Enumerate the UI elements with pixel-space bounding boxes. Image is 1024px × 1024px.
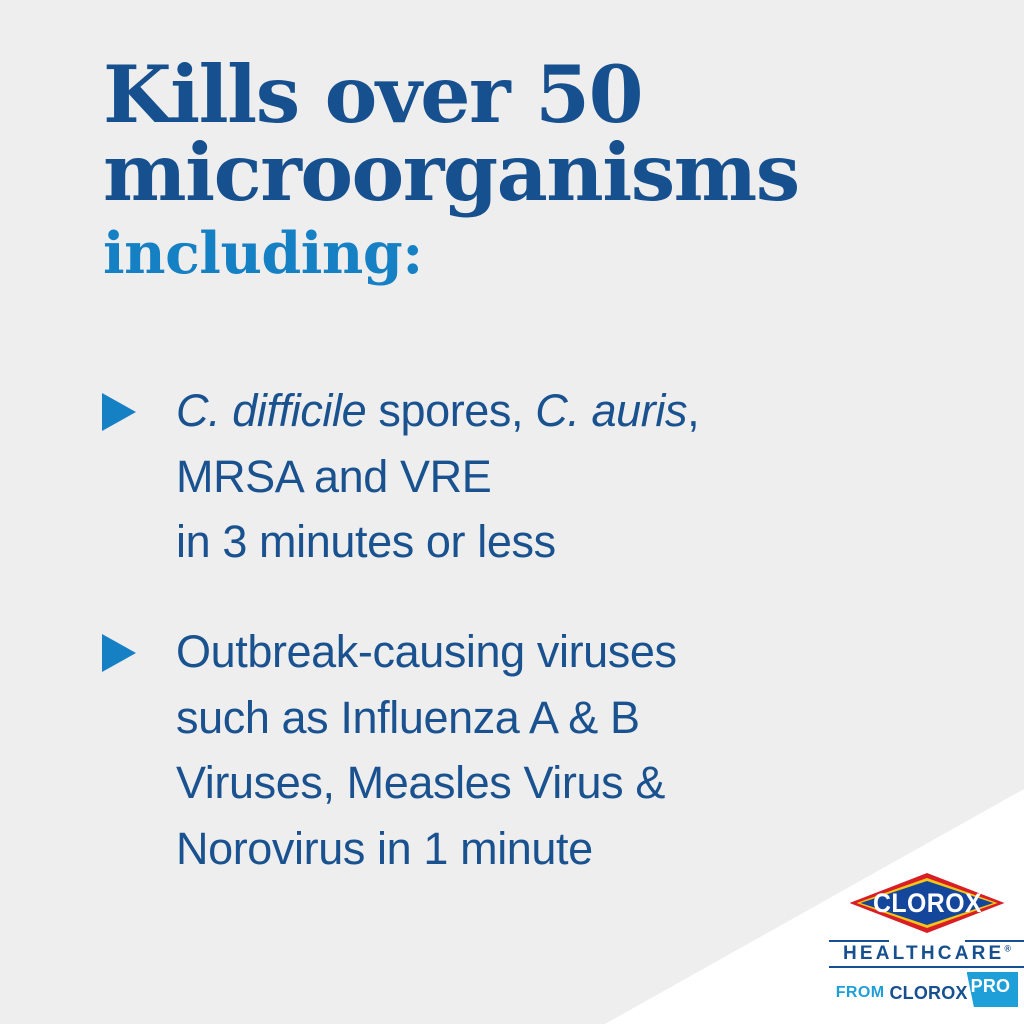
bullet-text-run: spores, (366, 385, 535, 436)
rule-bottom (829, 966, 1024, 968)
organism-name: C. auris (535, 385, 687, 436)
healthcare-division-row: HEALTHCARE® (829, 938, 1024, 968)
bullet-item-2: Outbreak-causing viruses such as Influen… (98, 619, 958, 882)
bullet-item-2-text: Outbreak-causing viruses such as Influen… (176, 619, 958, 882)
triangle-right-icon (102, 393, 136, 431)
headline-line-1: Kills over 50 (103, 56, 903, 134)
bullet-line: Outbreak-causing viruses (176, 619, 958, 685)
bullet-line: such as Influenza A & B (176, 685, 958, 751)
cloroxpro-brand-text: CLOROX (889, 983, 967, 1004)
bullet-list: C. difficile spores, C. auris, MRSA and … (98, 378, 958, 926)
bullet-text-run: , (687, 385, 699, 436)
headline-line-2: microorganisms (103, 134, 903, 212)
organism-name: C. difficile (176, 385, 366, 436)
including-label: including: (103, 224, 903, 284)
rule-top-right (965, 940, 1024, 942)
registered-mark: ® (1004, 944, 1011, 954)
bullet-line: MRSA and VRE (176, 444, 958, 510)
clorox-brand-text: CLOROX (856, 873, 999, 933)
from-label: FROM (836, 984, 885, 1002)
healthcare-label: HEALTHCARE® (829, 944, 1024, 963)
bullet-item-1-text: C. difficile spores, C. auris, MRSA and … (176, 378, 958, 575)
headline-block: Kills over 50 microorganisms including: (103, 56, 903, 284)
bullet-line: Norovirus in 1 minute (176, 816, 958, 882)
poster-canvas: Kills over 50 microorganisms including: … (0, 0, 1024, 1024)
bullet-item-1: C. difficile spores, C. auris, MRSA and … (98, 378, 958, 575)
healthcare-text: HEALTHCARE (843, 943, 1004, 964)
clorox-healthcare-logo: CLOROX HEALTHCARE® FROM CLOROX PRO® (829, 873, 1024, 1009)
pro-badge: PRO® (967, 972, 1019, 1007)
bullet-line: Viruses, Measles Virus & (176, 750, 958, 816)
clorox-diamond-icon: CLOROX (850, 873, 1005, 933)
bullet-line: in 3 minutes or less (176, 509, 958, 575)
rule-top-left (829, 940, 889, 942)
triangle-right-icon (102, 634, 136, 672)
bullet-line: C. difficile spores, C. auris, (176, 378, 958, 444)
pro-text: PRO (971, 976, 1011, 996)
from-cloroxpro-row: FROM CLOROX PRO® (829, 977, 1024, 1009)
